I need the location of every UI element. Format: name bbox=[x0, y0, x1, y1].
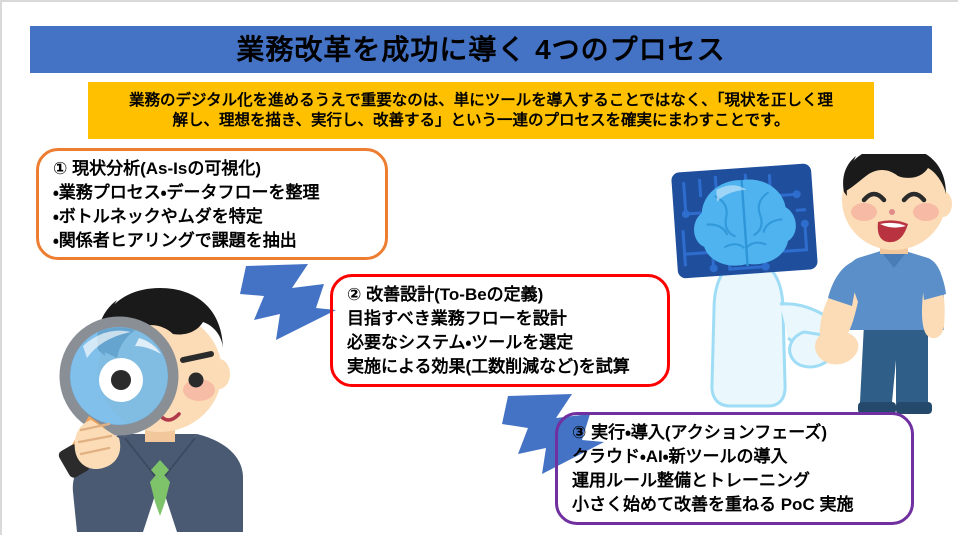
process-box-2-line-2: 必要なシステム・ツールを選定 bbox=[347, 331, 653, 355]
lead-statement-line-2: 解し、理想を描き、実行し、改善する」という一連のプロセスを確実にまわすことです。 bbox=[173, 111, 790, 131]
process-box-1-title: ① 現状分析(As-Isの可視化) bbox=[53, 157, 371, 181]
process-box-2-title: ② 改善設計(To-Beの定義) bbox=[347, 283, 653, 307]
slide-title-banner: 業務改革を成功に導く 4つのプロセス bbox=[30, 26, 932, 73]
lead-statement-line-1: 業務のデジタル化を進めるうえで重要なのは、単にツールを導入することではなく、「現… bbox=[129, 91, 833, 111]
process-box-1-line-3: ・関係者ヒアリングで課題を抽出 bbox=[53, 229, 371, 253]
process-box-3-line-2: 運用ルール整備とトレーニング bbox=[572, 469, 897, 493]
lead-statement-banner: 業務のデジタル化を進めるうえで重要なのは、単にツールを導入することではなく、「現… bbox=[88, 82, 874, 139]
process-box-1-line-1: ・業務プロセス・データフローを整理 bbox=[53, 181, 371, 205]
businessman-with-magnifying-glass-illustration bbox=[47, 264, 262, 532]
slide-canvas: 業務改革を成功に導く 4つのプロセス 業務のデジタル化を進めるうえで重要なのは、… bbox=[0, 0, 958, 535]
process-box-2-line-1: 目指すべき業務フローを設計 bbox=[347, 307, 653, 331]
process-box-3-line-3: 小さく始めて改善を重ねる PoC 実施 bbox=[572, 493, 897, 517]
process-box-2-improvement-design[interactable]: ② 改善設計(To-Beの定義) 目指すべき業務フローを設計 必要なシステム・ツ… bbox=[330, 274, 670, 387]
page-title: 業務改革を成功に導く 4つのプロセス bbox=[236, 36, 725, 64]
process-box-2-line-3: 実施による効果(工数削減など)を試算 bbox=[347, 355, 653, 379]
process-box-1-line-2: ・ボトルネックやムダを特定 bbox=[53, 205, 371, 229]
process-box-1-current-state-analysis[interactable]: ① 現状分析(As-Isの可視化) ・業務プロセス・データフローを整理 ・ボトル… bbox=[36, 148, 388, 260]
process-box-3-line-1: クラウド・AI・新ツールの導入 bbox=[572, 445, 897, 469]
process-box-3-title: ③ 実行・導入(アクションフェーズ) bbox=[572, 421, 897, 445]
process-box-3-execution-and-rollout[interactable]: ③ 実行・導入(アクションフェーズ) クラウド・AI・新ツールの導入 運用ルール… bbox=[555, 412, 914, 525]
ai-robot-handshake-illustration bbox=[652, 154, 952, 422]
